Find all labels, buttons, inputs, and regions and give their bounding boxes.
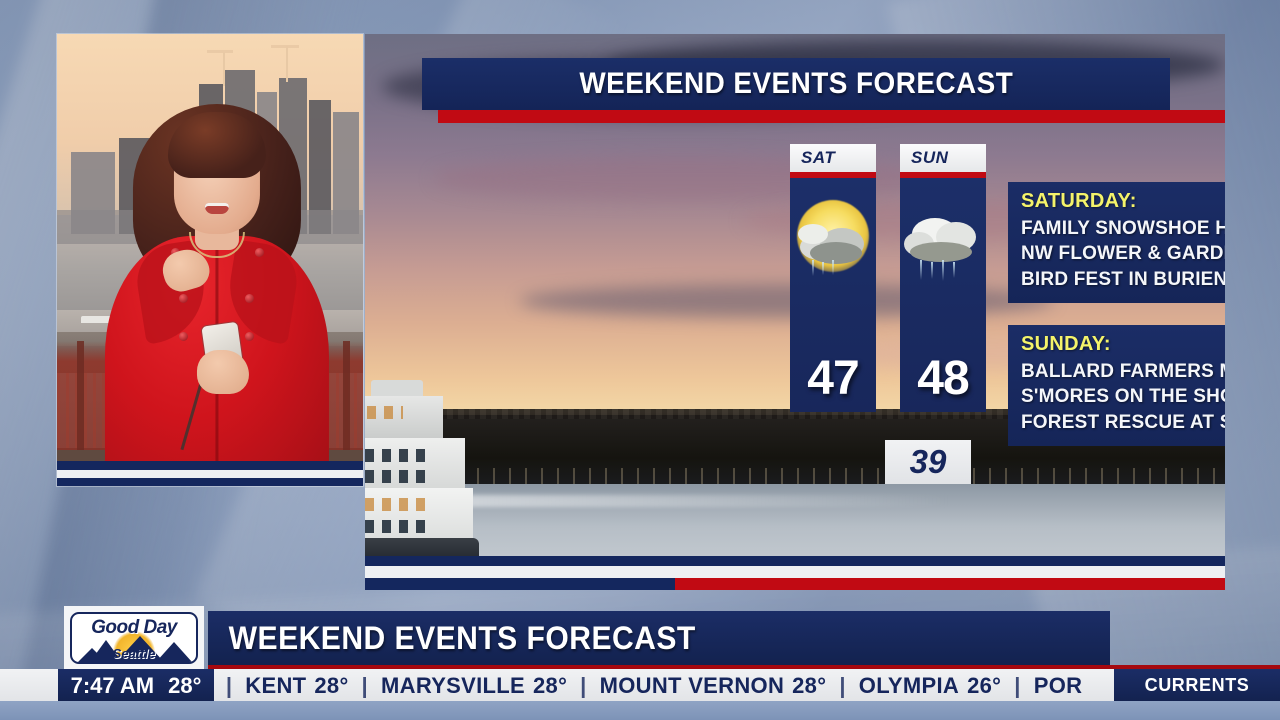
ticker-city: MARYSVILLE (377, 673, 529, 699)
ticker-temp: 28° (788, 673, 830, 699)
logo-line-2: Seattle (72, 646, 196, 661)
high-temp-sat: 47 (790, 351, 876, 406)
shoreline-lights (365, 468, 1225, 485)
day-label-sat: SAT (801, 148, 835, 168)
event-item: FAMILY SNOWSHOE HIKE (1021, 216, 1225, 241)
rain-streak (942, 260, 944, 281)
sunday-low-temp-box: 39 (885, 440, 971, 484)
forecast-column-sat: SAT 47 (790, 144, 876, 412)
logo-line-1: Good Day (72, 617, 196, 639)
ticker-separator: | (353, 673, 377, 699)
good-day-seattle-logo: Good Day Seattle (64, 606, 204, 670)
hair-top (168, 112, 266, 178)
hand-holding-phone (197, 350, 249, 394)
clock-temp-block: 7:47 AM 28° (58, 669, 214, 702)
ferry-window-row (365, 449, 425, 462)
panel-border-red (675, 578, 1225, 590)
ferry-window-row (365, 520, 433, 533)
cloud-puff (798, 224, 828, 244)
event-item: BIRD FEST IN BURIEN (1021, 267, 1225, 292)
lower-third: Good Day Seattle WEEKEND EVENTS FORECAST… (0, 602, 1280, 720)
forecast-graphic-panel: WEEKEND EVENTS FORECAST SAT 47 SUN (365, 34, 1225, 590)
coat-button (179, 294, 188, 303)
ferry-window-row (367, 406, 403, 419)
ferry-window-row (365, 470, 425, 483)
rain-streak (920, 260, 922, 280)
high-temp-sun: 48 (900, 351, 986, 406)
coat-button (255, 248, 264, 257)
coat-button (179, 332, 188, 341)
ferry-boat (365, 374, 479, 564)
day-body-sat: 47 (790, 178, 876, 412)
ferry-mid-deck (365, 438, 465, 490)
ticker-temp: 26° (963, 673, 1005, 699)
boat-wake (417, 495, 950, 506)
day-header-sun: SUN (900, 144, 986, 172)
event-item: BALLARD FARMERS MARKET (1021, 359, 1225, 384)
panel-border-navy-top (365, 556, 1225, 566)
ticker-separator: | (571, 673, 595, 699)
event-item: FOREST RESCUE AT SEA-TAC (1021, 410, 1225, 435)
meteorologist-figure (101, 126, 333, 486)
lower-third-headline-bar: WEEKEND EVENTS FORECAST (208, 611, 1110, 665)
ferry-upper-cabin (365, 396, 443, 440)
ticker-city: MOUNT VERNON (596, 673, 789, 699)
construction-crane-arm (271, 45, 299, 48)
events-day-label-saturday: SATURDAY: (1021, 190, 1225, 213)
day-label-sun: SUN (911, 148, 948, 168)
ferry-lower-deck (365, 488, 473, 542)
ticker-separator: | (830, 673, 854, 699)
cloud-puff (810, 242, 862, 264)
rooftop-scene (57, 34, 363, 486)
video-border-navy-top (57, 461, 363, 470)
panel-border-white (365, 566, 1225, 578)
video-border-white (57, 470, 363, 478)
day-body-sun: 48 (900, 178, 986, 412)
coat-button (245, 332, 254, 341)
events-box-saturday: SATURDAY: FAMILY SNOWSHOE HIKE NW FLOWER… (1008, 182, 1225, 303)
forecast-column-sun: SUN 48 (900, 144, 986, 412)
construction-crane-arm (207, 50, 233, 53)
reporter-video-panel (57, 34, 363, 486)
currents-badge: CURRENTS (1114, 669, 1280, 702)
ferry-window-row (365, 498, 433, 511)
mouth (205, 203, 229, 214)
screen-bottom-edge (0, 701, 1280, 720)
ticker-temp: 28° (310, 673, 352, 699)
day-header-sat: SAT (790, 144, 876, 172)
ticker-separator: | (1005, 673, 1029, 699)
rain-streak (812, 260, 814, 276)
event-item: NW FLOWER & GARDEN FESTIVAL (1021, 241, 1225, 266)
current-time: 7:47 AM (71, 673, 155, 699)
cloud-puff (910, 242, 972, 262)
ticker-separator: | (217, 673, 241, 699)
video-border-navy-bottom (57, 478, 363, 486)
construction-crane (223, 52, 225, 86)
lower-third-headline: WEEKEND EVENTS FORECAST (208, 620, 696, 657)
currents-label: CURRENTS (1145, 675, 1250, 696)
panel-title-red-accent (438, 110, 1225, 123)
sunday-low-temp: 39 (910, 443, 947, 481)
current-temp: 28° (168, 673, 201, 699)
ticker-city: KENT (241, 673, 310, 699)
rain-streak (822, 262, 824, 275)
coat-button (245, 294, 254, 303)
rain-streak (832, 260, 834, 275)
ticker-temp: 28° (529, 673, 571, 699)
construction-crane (286, 46, 288, 82)
events-box-sunday: SUNDAY: BALLARD FARMERS MARKET S'MORES O… (1008, 325, 1225, 446)
events-day-label-sunday: SUNDAY: (1021, 333, 1225, 356)
logo-frame: Good Day Seattle (70, 612, 198, 664)
rain-streak (931, 262, 933, 279)
panel-title-text: WEEKEND EVENTS FORECAST (579, 67, 1013, 101)
ticker-city: POR (1030, 673, 1087, 699)
ticker-city: OLYMPIA (855, 673, 963, 699)
panel-title-bar: WEEKEND EVENTS FORECAST (422, 58, 1170, 110)
event-item: S'MORES ON THE SHORE (1021, 384, 1225, 409)
sun-behind-rain-cloud-icon (790, 194, 876, 290)
rain-cloud-icon (900, 194, 986, 290)
rain-streak (953, 262, 955, 278)
